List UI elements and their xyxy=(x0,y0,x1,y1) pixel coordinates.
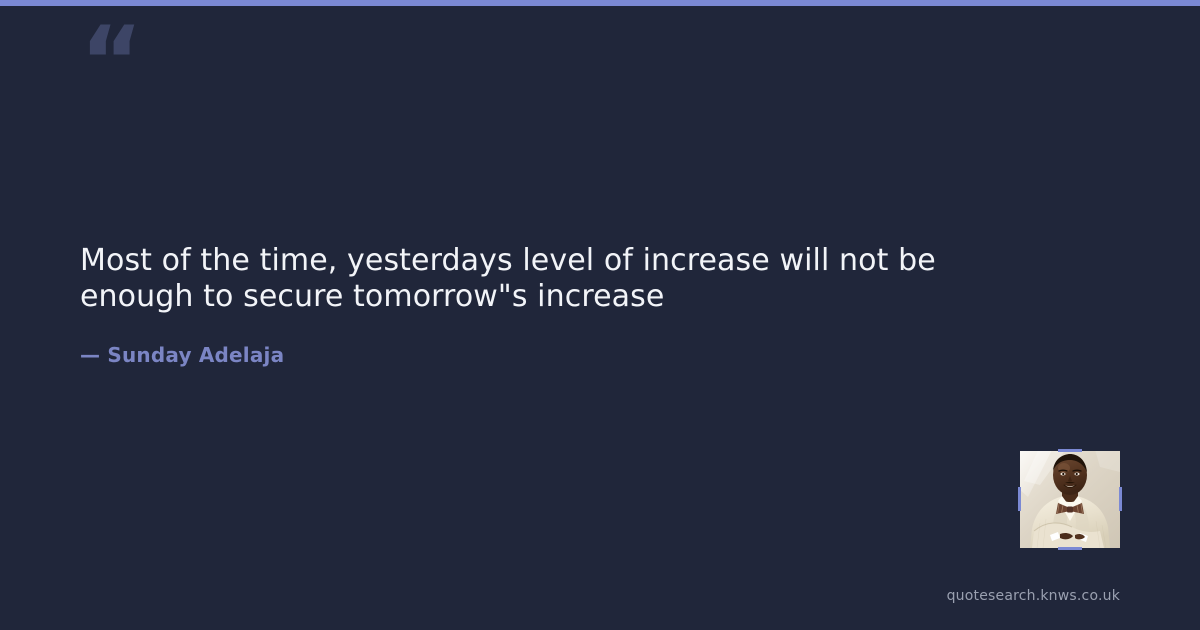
source-watermark: quotesearch.knws.co.uk xyxy=(947,588,1120,604)
top-accent-bar xyxy=(0,0,1200,6)
quote-card: “ Most of the time, yesterdays level of … xyxy=(0,0,1200,630)
resize-handle-top[interactable] xyxy=(1058,449,1082,452)
resize-handle-left[interactable] xyxy=(1018,487,1021,511)
opening-quote-icon: “ xyxy=(80,14,141,110)
quote-attribution: — Sunday Adelaja xyxy=(80,315,1010,367)
quote-block: Most of the time, yesterdays level of in… xyxy=(80,243,1010,367)
resize-handle-bottom[interactable] xyxy=(1058,547,1082,550)
resize-handle-right[interactable] xyxy=(1119,487,1122,511)
author-portrait[interactable] xyxy=(1020,451,1120,548)
author-portrait-image xyxy=(1020,451,1120,548)
quote-text: Most of the time, yesterdays level of in… xyxy=(80,243,1010,315)
